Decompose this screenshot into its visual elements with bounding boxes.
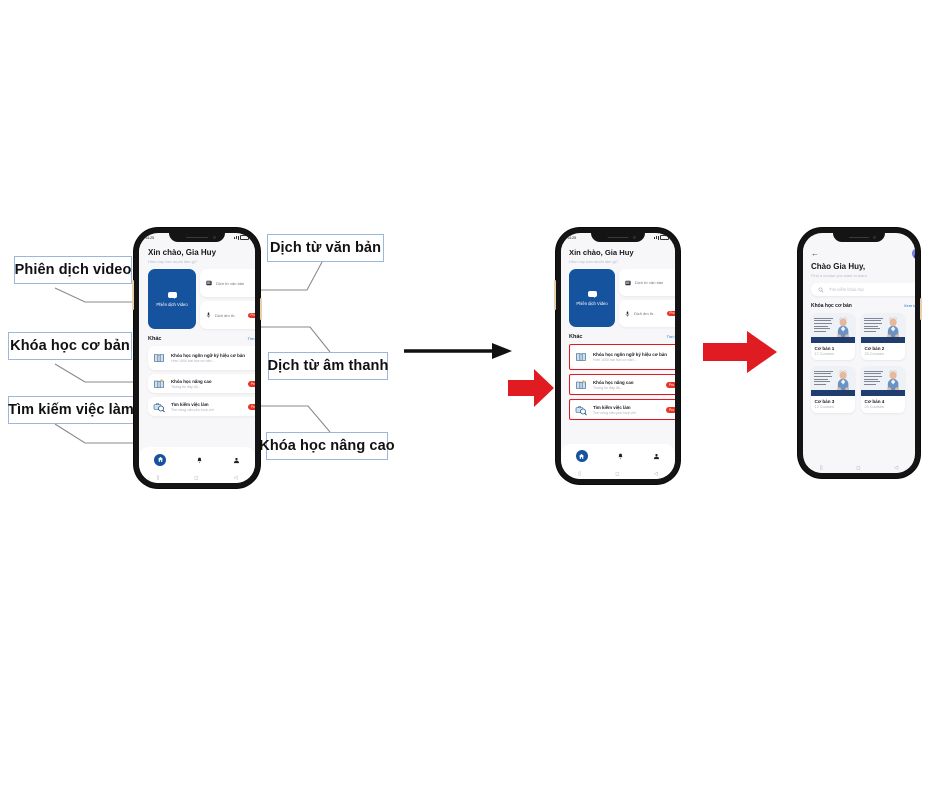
text-translate-label: Dịch từ văn bản (635, 280, 663, 285)
callout-dich-tu-am-thanh: Dịch từ âm thanh (268, 352, 388, 380)
course-card[interactable]: Cơ bản 3 13 Courses (811, 366, 855, 413)
phone-screen: 14:25 Xin chào, Gia Huy Hôm nay bạn muốn… (561, 233, 675, 479)
course-list: Khóa học ngôn ngữ ký hiệu cơ bản Hơn 100… (569, 344, 675, 420)
phone-mockup-courses: ← Chào Gia Huy, Find a course you want t… (798, 228, 920, 478)
home-icon (578, 453, 585, 460)
home-button[interactable]: ◻ (615, 471, 619, 477)
course-count: 17 Courses (815, 352, 852, 356)
thumb-base (811, 390, 855, 396)
front-camera (873, 236, 876, 239)
course-grid: Cơ bản 1 17 Courses (811, 313, 915, 413)
audio-translate-label: Dịch âm th.. (634, 311, 655, 316)
callout-label: Dịch từ văn bản (270, 240, 381, 256)
list-item-subtitle: Thông tin đầy đủ... (171, 385, 242, 389)
status-icons (654, 235, 675, 241)
profile-tab[interactable] (233, 451, 240, 469)
callout-khoa-hoc-co-ban: Khóa học cơ bản (8, 332, 132, 360)
others-section-header: Khác Tìm kiếm (148, 336, 255, 342)
search-link[interactable]: Tìm kiếm (667, 334, 675, 339)
see-all-link[interactable]: Xem tất cả (904, 303, 915, 308)
status-bar: 14:25 (139, 233, 255, 242)
thumb-text-lines (864, 371, 883, 387)
phone-side-button (920, 298, 922, 320)
list-item-title: Khóa học nâng cao (593, 380, 660, 385)
status-time: 14:25 (561, 235, 576, 240)
pro-badge: Pro (248, 313, 255, 318)
highlight-box-3: Tìm kiếm việc làm Tìm công việc phù hợp … (569, 399, 675, 420)
thumb-base (861, 337, 905, 343)
list-item-text: Khóa học ngôn ngữ ký hiệu cơ bản Hơn 100… (171, 353, 255, 364)
status-bar: 14:25 (561, 233, 675, 242)
course-card[interactable]: Cơ bản 1 17 Courses (811, 313, 855, 360)
course-thumbnail (861, 366, 905, 396)
list-item-subtitle: Hơn 1000 bài học cơ bản... (593, 358, 675, 362)
course-card-body: Cơ bản 2 25 Courses (861, 343, 905, 360)
others-title: Khác (148, 336, 161, 342)
mic-icon (625, 311, 630, 317)
course-title: Cơ bản 4 (865, 399, 902, 404)
phone-side-button-2 (260, 298, 262, 320)
course-thumbnail (811, 313, 855, 343)
list-item[interactable]: Tìm kiếm việc làm Tìm công việc phù hợp … (570, 400, 675, 419)
course-thumbnail (811, 366, 855, 396)
courses-top-bar: ← (811, 248, 915, 259)
recent-apps-button[interactable]: ▯ (820, 465, 823, 471)
list-item[interactable]: Khóa học ngôn ngữ ký hiệu cơ bản Hơn 100… (148, 346, 255, 370)
status-time: 14:25 (139, 235, 154, 240)
avatar[interactable] (912, 248, 915, 259)
phone-side-button (554, 280, 556, 310)
text-icon (206, 280, 212, 286)
greeting-subtitle: Hôm nay bạn muốn làm gì? (148, 259, 255, 264)
list-item-text: Khóa học ngôn ngữ ký hiệu cơ bản Hơn 100… (593, 352, 675, 363)
status-icons (234, 235, 255, 241)
book-icon (153, 378, 165, 390)
list-item-title: Khóa học ngôn ngữ ký hiệu cơ bản (593, 352, 675, 358)
home-screen-content: Xin chào, Gia Huy Hôm nay bạn muốn làm g… (561, 244, 675, 420)
action-cards: Dịch từ văn bản Dịch âm th.. Pro (619, 269, 675, 327)
list-item-subtitle: Hơn 1000 bài học cơ bản... (171, 359, 255, 363)
home-tab[interactable] (154, 454, 166, 466)
list-item-title: Tìm kiếm việc làm (593, 405, 660, 410)
list-item[interactable]: Tìm kiếm việc làm Tìm công việc phù hợp … (148, 397, 255, 416)
back-arrow-icon[interactable]: ← (811, 250, 819, 258)
home-screen-content: Xin chào, Gia Huy Hôm nay bạn muốn làm g… (139, 244, 255, 416)
course-count: 20 Courses (865, 405, 902, 409)
thumb-text-lines (864, 318, 883, 334)
black-arrow (404, 340, 512, 362)
home-tab[interactable] (576, 450, 588, 462)
job-search-icon (575, 404, 587, 416)
person-icon (233, 457, 240, 464)
text-translate-card[interactable]: Dịch từ văn bản (200, 269, 255, 297)
back-button[interactable]: ◁ (234, 475, 238, 481)
list-item-subtitle: Tìm công việc phù hợp với (171, 408, 242, 412)
red-arrow-2 (703, 330, 777, 374)
callout-dich-tu-van-ban: Dịch từ văn bản (267, 234, 384, 262)
course-card-body: Cơ bản 1 17 Courses (811, 343, 855, 360)
course-card-body: Cơ bản 4 20 Courses (861, 396, 905, 413)
list-item[interactable]: Khóa học nâng cao Thông tin đầy đủ... Pr… (570, 375, 675, 394)
thumb-base (811, 337, 855, 343)
search-input[interactable]: Tìm kiếm khóa học (811, 283, 915, 296)
hero-row: Phiên dịch Video Dịch từ văn bản (148, 269, 255, 329)
others-title: Khác (569, 334, 582, 340)
book-icon (575, 351, 587, 363)
course-card-body: Cơ bản 3 13 Courses (811, 396, 855, 413)
pro-badge: Pro (248, 404, 255, 410)
course-title: Cơ bản 1 (815, 346, 852, 351)
profile-tab[interactable] (653, 447, 660, 465)
callout-khoa-hoc-nang-cao: Khóa học nâng cao (266, 432, 388, 460)
book-icon (575, 379, 587, 391)
search-icon (818, 287, 824, 293)
search-placeholder: Tìm kiếm khóa học (829, 287, 864, 292)
course-card[interactable]: Cơ bản 2 25 Courses (861, 313, 905, 360)
list-item-text: Khóa học nâng cao Thông tin đầy đủ... (171, 379, 242, 389)
callout-label: Tìm kiếm việc làm (8, 402, 134, 418)
courses-subtitle: Find a course you want to learn (811, 273, 915, 278)
callout-tim-kiem-viec-lam: Tìm kiếm việc làm (8, 396, 134, 424)
text-icon (625, 280, 631, 286)
book-icon (153, 352, 165, 364)
course-title: Cơ bản 2 (865, 346, 902, 351)
speaker-grille (849, 237, 869, 239)
list-item-title: Khóa học ngôn ngữ ký hiệu cơ bản (171, 353, 255, 359)
greeting-subtitle: Hôm nay bạn muốn làm gì? (569, 259, 675, 264)
text-translate-card[interactable]: Dịch từ văn bản (619, 269, 675, 296)
highlight-box-1: Khóa học ngôn ngữ ký hiệu cơ bản Hơn 100… (569, 344, 675, 370)
thumb-base (861, 390, 905, 396)
thumb-text-lines (814, 371, 833, 387)
list-item-text: Tìm kiếm việc làm Tìm công việc phù hợp … (593, 405, 660, 415)
hero-row: Phiên dịch Video Dịch từ văn bản (569, 269, 675, 327)
courses-screen-content: ← Chào Gia Huy, Find a course you want t… (803, 244, 915, 413)
list-item-subtitle: Tìm công việc phù hợp với (593, 411, 660, 415)
home-button[interactable]: ◻ (856, 465, 860, 471)
course-card[interactable]: Cơ bản 4 20 Courses (861, 366, 905, 413)
android-nav-bar: ▯ ◻ ◁ (803, 462, 915, 473)
phone-side-button (132, 280, 134, 310)
basic-courses-title: Khóa học cơ bản (811, 303, 852, 309)
bottom-tab-bar (139, 447, 255, 472)
list-item-text: Tìm kiếm việc làm Tìm công việc phù hợp … (171, 402, 242, 412)
callout-label: Khóa học cơ bản (10, 338, 130, 354)
course-title: Cơ bản 3 (815, 399, 852, 404)
course-list: Khóa học ngôn ngữ ký hiệu cơ bản Hơn 100… (148, 346, 255, 416)
audio-translate-card[interactable]: Dịch âm th.. Pro (200, 301, 255, 329)
home-button[interactable]: ◻ (194, 475, 198, 481)
video-interpret-label: Phiên dịch Video (576, 301, 607, 306)
home-icon (157, 456, 164, 463)
person-icon (653, 453, 660, 460)
pro-badge: Pro (666, 382, 675, 388)
callout-label: Khóa học nâng cao (259, 438, 394, 454)
android-nav-bar: ▯ ◻ ◁ (561, 468, 675, 479)
recent-apps-button[interactable]: ▯ (157, 475, 160, 481)
list-item-text: Khóa học nâng cao Thông tin đầy đủ... (593, 380, 660, 390)
phone-mockup-home: 14:25 Xin chào, Gia Huy Hôm nay bạn muốn… (134, 228, 260, 488)
video-icon (588, 291, 597, 297)
others-section-header: Khác Tìm kiếm (569, 334, 675, 340)
bell-icon (617, 453, 624, 460)
pro-badge: Pro (667, 311, 675, 316)
callout-label: Phiên dịch video (15, 262, 132, 278)
notification-tab[interactable] (617, 447, 624, 465)
list-item-title: Khóa học nâng cao (171, 379, 242, 384)
pro-badge: Pro (248, 381, 255, 387)
audio-translate-card[interactable]: Dịch âm th.. Pro (619, 300, 675, 327)
phone-screen: ← Chào Gia Huy, Find a course you want t… (803, 233, 915, 473)
red-arrow-1 (508, 368, 554, 408)
greeting-title: Xin chào, Gia Huy (148, 248, 255, 257)
video-interpret-card[interactable]: Phiên dịch Video (148, 269, 196, 329)
notification-tab[interactable] (196, 451, 203, 469)
list-item[interactable]: Khóa học nâng cao Thông tin đầy đủ... Pr… (148, 374, 255, 393)
back-button[interactable]: ◁ (894, 465, 898, 471)
pro-badge: Pro (666, 407, 675, 413)
text-translate-label: Dịch từ văn bản (216, 281, 244, 286)
greeting-title: Xin chào, Gia Huy (569, 248, 675, 257)
list-item-title: Tìm kiếm việc làm (171, 402, 242, 407)
phone-notch (833, 233, 885, 242)
course-count: 13 Courses (815, 405, 852, 409)
course-thumbnail (861, 313, 905, 343)
video-icon (168, 292, 177, 298)
course-count: 25 Courses (865, 352, 902, 356)
bottom-tab-bar (561, 444, 675, 468)
diagram-canvas: Phiên dịch video Khóa học cơ bản Tìm kiế… (0, 0, 940, 788)
thumb-text-lines (814, 318, 833, 334)
search-link[interactable]: Tìm kiếm (248, 336, 255, 341)
list-item[interactable]: Khóa học ngôn ngữ ký hiệu cơ bản Hơn 100… (570, 345, 675, 369)
android-nav-bar: ▯ ◻ ◁ (139, 472, 255, 483)
audio-translate-label: Dịch âm th.. (215, 313, 236, 318)
bell-icon (196, 457, 203, 464)
job-search-icon (153, 401, 165, 413)
mic-icon (206, 312, 211, 318)
back-button[interactable]: ◁ (654, 471, 658, 477)
list-item-subtitle: Thông tin đầy đủ... (593, 386, 660, 390)
callout-phien-dich-video: Phiên dịch video (14, 256, 132, 284)
recent-apps-button[interactable]: ▯ (578, 471, 581, 477)
phone-screen: 14:25 Xin chào, Gia Huy Hôm nay bạn muốn… (139, 233, 255, 483)
basic-courses-header: Khóa học cơ bản Xem tất cả (811, 303, 915, 309)
phone-mockup-home-highlighted: 14:25 Xin chào, Gia Huy Hôm nay bạn muốn… (556, 228, 680, 484)
callout-label: Dịch từ âm thanh (268, 358, 389, 374)
action-cards: Dịch từ văn bản Dịch âm th.. Pro (200, 269, 255, 329)
courses-greeting: Chào Gia Huy, (811, 262, 915, 271)
video-interpret-label: Phiên dịch Video (156, 302, 187, 307)
highlight-box-2: Khóa học nâng cao Thông tin đầy đủ... Pr… (569, 374, 675, 395)
video-interpret-card[interactable]: Phiên dịch Video (569, 269, 615, 327)
